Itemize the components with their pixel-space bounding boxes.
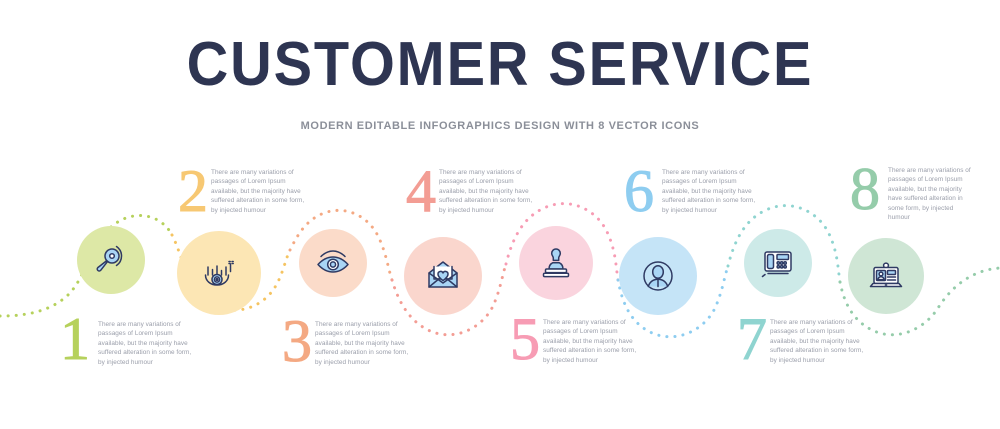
step-circle-7[interactable] xyxy=(744,229,812,297)
page-subtitle: MODERN EDITABLE INFOGRAPHICS DESIGN WITH… xyxy=(0,120,1000,132)
step-circle-1[interactable] xyxy=(77,226,145,294)
love-letter-icon xyxy=(420,253,466,299)
step-description-5: There are many variations of passages of… xyxy=(543,318,638,365)
step-number-6: 6 xyxy=(624,162,654,220)
step-number-3: 3 xyxy=(282,312,312,370)
step-description-6: There are many variations of passages of… xyxy=(662,168,757,215)
step-description-3: There are many variations of passages of… xyxy=(315,320,410,367)
hand-chart-target-icon xyxy=(197,251,241,295)
step-circle-6[interactable] xyxy=(619,237,697,315)
infographic-canvas: CUSTOMER SERVICE MODERN EDITABLE INFOGRA… xyxy=(0,0,1000,429)
step-circle-3[interactable] xyxy=(299,229,367,297)
step-number-1: 1 xyxy=(60,310,90,368)
video-call-laptop-icon xyxy=(864,254,908,298)
step-circle-5[interactable] xyxy=(519,226,593,300)
step-description-7: There are many variations of passages of… xyxy=(770,318,865,365)
step-number-7: 7 xyxy=(737,310,767,368)
step-description-4: There are many variations of passages of… xyxy=(439,168,534,215)
step-description-2: There are many variations of passages of… xyxy=(211,168,306,215)
step-circle-8[interactable] xyxy=(848,238,924,314)
office-telephone-icon xyxy=(757,242,799,284)
step-number-8: 8 xyxy=(850,160,880,218)
step-description-1: There are many variations of passages of… xyxy=(98,320,193,367)
step-number-2: 2 xyxy=(178,162,208,220)
step-circle-4[interactable] xyxy=(404,237,482,315)
user-avatar-icon xyxy=(636,254,680,298)
step-description-8: There are many variations of passages of… xyxy=(888,166,972,222)
step-number-4: 4 xyxy=(406,162,436,220)
rubber-stamp-icon xyxy=(535,242,577,284)
stethoscope-icon xyxy=(93,242,129,278)
step-number-5: 5 xyxy=(510,310,540,368)
step-circle-2[interactable] xyxy=(177,231,261,315)
page-title: CUSTOMER SERVICE xyxy=(35,34,965,96)
eye-icon xyxy=(313,243,353,283)
